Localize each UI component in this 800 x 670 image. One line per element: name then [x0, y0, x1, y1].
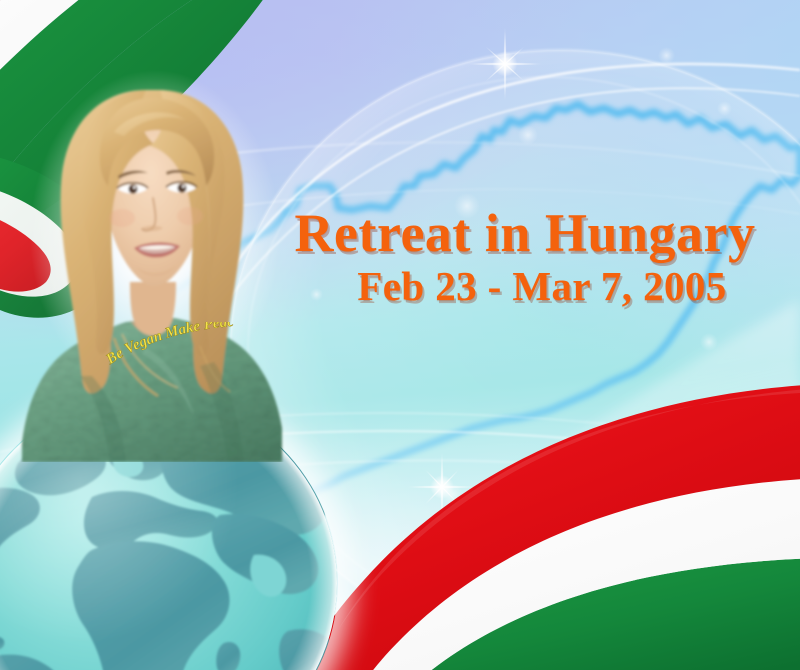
hungarian-flag-ribbon-bottom-right — [290, 348, 800, 670]
page-title: Retreat in Hungary — [258, 206, 792, 261]
event-dates: Feb 23 - Mar 7, 2005 — [258, 265, 792, 308]
woman-portrait — [18, 76, 286, 462]
title-block: Retreat in Hungary Feb 23 - Mar 7, 2005 — [258, 206, 792, 308]
poster-canvas: Be Vegan Make Peace Retreat in Hungary F… — [0, 0, 800, 670]
